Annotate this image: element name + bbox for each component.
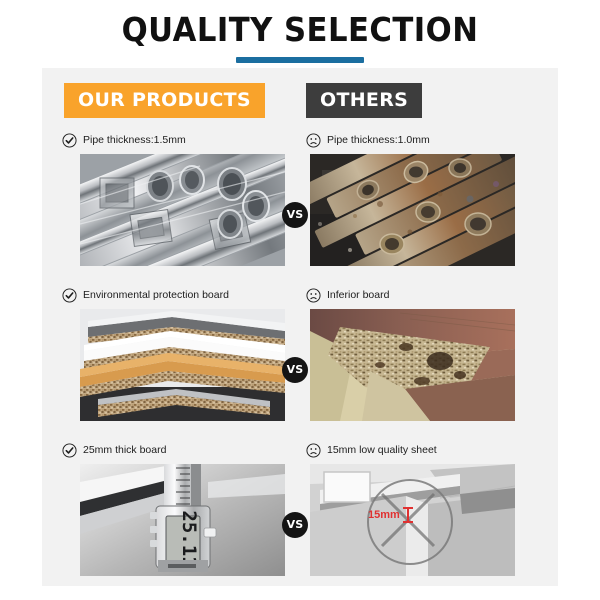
particle-boards-photo [80, 309, 285, 421]
sad-face-icon [306, 133, 321, 148]
others-label-row: Pipe thickness:1.0mm [306, 130, 548, 150]
our-product-cell: Pipe thickness:1.5mm [62, 130, 304, 282]
vs-badge: VS [282, 202, 308, 228]
others-label-text: 15mm low quality sheet [327, 444, 437, 456]
title-block: QUALITY SELECTION [0, 10, 600, 63]
comparison-row: Environmental protection board [42, 285, 558, 440]
title-underline [236, 57, 364, 63]
our-product-label-text: Environmental protection board [83, 289, 229, 301]
sad-face-icon [306, 443, 321, 458]
vs-badge: VS [282, 512, 308, 538]
others-label-text: Inferior board [327, 289, 389, 301]
our-product-label-text: Pipe thickness:1.5mm [83, 134, 186, 146]
rusty-pipes-photo [310, 154, 515, 266]
our-product-image [80, 309, 285, 421]
thin-sheet-desk-photo: 15mm [310, 464, 515, 576]
our-product-cell: Environmental protection board [62, 285, 304, 437]
damaged-board-photo [310, 309, 515, 421]
check-circle-icon [62, 443, 77, 458]
our-product-label-row: Pipe thickness:1.5mm [62, 130, 304, 150]
others-label-row: Inferior board [306, 285, 548, 305]
others-cell: Inferior board [306, 285, 548, 437]
our-product-label-row: Environmental protection board [62, 285, 304, 305]
column-header-others: OTHERS [306, 83, 422, 118]
others-label-text: Pipe thickness:1.0mm [327, 134, 430, 146]
others-image [310, 309, 515, 421]
others-label-row: 15mm low quality sheet [306, 440, 548, 460]
check-circle-icon [62, 133, 77, 148]
comparison-row: 25mm thick board [42, 440, 558, 595]
vs-badge: VS [282, 357, 308, 383]
others-cell: Pipe thickness:1.0mm [306, 130, 548, 282]
our-product-label-text: 25mm thick board [83, 444, 166, 456]
caliper-reading: 25.11 [178, 510, 200, 567]
page-title: QUALITY SELECTION [21, 10, 579, 50]
others-image: 15mm [310, 464, 515, 576]
our-product-label-row: 25mm thick board [62, 440, 304, 460]
quality-selection-page: QUALITY SELECTION OUR PRODUCTS OTHERS Pi… [0, 0, 600, 600]
annotation-text: 15mm [368, 509, 400, 521]
our-product-image [80, 154, 285, 266]
others-image [310, 154, 515, 266]
others-cell: 15mm low quality sheet [306, 440, 548, 592]
our-product-image: 25.11 [80, 464, 285, 576]
sad-face-icon [306, 288, 321, 303]
comparison-panel: OUR PRODUCTS OTHERS Pipe thickness:1.5mm [42, 68, 558, 586]
our-product-cell: 25mm thick board [62, 440, 304, 592]
steel-pipes-photo [80, 154, 285, 266]
column-header-our-products: OUR PRODUCTS [64, 83, 265, 118]
caliper-measurement-photo: 25.11 [80, 464, 285, 576]
check-circle-icon [62, 288, 77, 303]
comparison-row: Pipe thickness:1.5mm [42, 130, 558, 285]
